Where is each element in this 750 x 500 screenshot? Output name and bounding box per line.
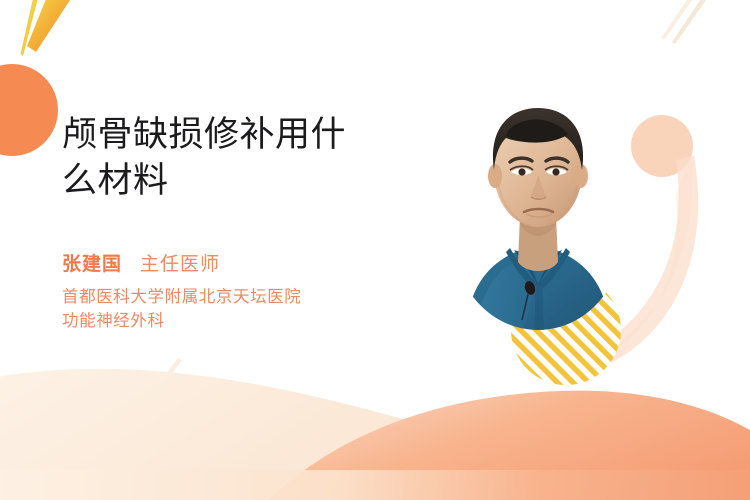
doctor-name: 张建国	[62, 249, 122, 276]
doctor-affiliation: 首都医科大学附属北京天坛医院 功能神经外科	[62, 285, 422, 334]
doctor-photo	[452, 84, 624, 332]
doctor-credential-line: 张建国 主任医师	[62, 249, 422, 276]
text-block: 颅骨缺损修补用什 么材料 张建国 主任医师 首都医科大学附属北京天坛医院 功能神…	[62, 112, 422, 334]
doctor-rank: 主任医师	[140, 249, 220, 276]
video-thumbnail-card: 颅骨缺损修补用什 么材料 张建国 主任医师 首都医科大学附属北京天坛医院 功能神…	[0, 0, 750, 500]
doctor-portrait-illustration	[452, 84, 624, 332]
page-title: 颅骨缺损修补用什 么材料	[62, 112, 422, 203]
